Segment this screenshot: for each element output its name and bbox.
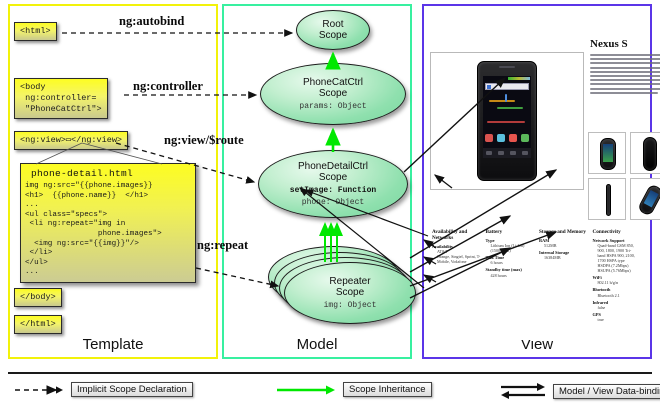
tag-html-close: </html>: [14, 315, 62, 334]
scope-repeater: RepeaterScope img: Object: [284, 262, 416, 324]
tag-ngview: <ng:view>▭</ng:view>: [14, 131, 128, 150]
snippet-filename: phone-detail.html: [25, 167, 191, 182]
thumb-front[interactable]: [588, 132, 626, 174]
spec-header-3: Connectivity: [593, 229, 643, 235]
label-ng-autobind: ng:autobind: [119, 14, 184, 29]
app-dock: [483, 130, 531, 146]
legend-green-arrow-icon: [276, 384, 336, 396]
scope-phonedetailctrl-title-l1: PhoneDetailCtrl: [298, 161, 368, 172]
legend-dashed-arrow-icon: [14, 384, 64, 396]
tray-icon-1: [486, 151, 492, 155]
hero-phone-image: [477, 61, 537, 181]
scope-repeater-title-l1: Repeater: [329, 276, 370, 287]
spec-val-2-1-0: 16384MB: [539, 255, 589, 260]
spec-val-3-4-0: true: [593, 317, 643, 322]
thumb-angle-phone-icon: [637, 183, 660, 217]
legend-implicit-scope-declaration: Implicit Scope Declaration: [14, 382, 193, 397]
thumb-side-phone-icon: [606, 184, 611, 216]
tray-icon-2: [498, 151, 504, 155]
wallpaper-stripe-2: [497, 107, 523, 109]
scope-phonecatctrl-title-l1: PhoneCatCtrl: [303, 77, 363, 88]
spec-column-storage: Storage and Memory RAM 512MB Internal St…: [539, 229, 589, 322]
legend-model-view-data-binding: Model / View Data-binding: [500, 382, 660, 400]
legend-label-data-binding: Model / View Data-binding: [553, 384, 660, 399]
app-icon-1: [485, 134, 493, 142]
thumb-back[interactable]: [630, 132, 660, 174]
app-icon-2: [497, 134, 505, 142]
tray-icon-3: [510, 151, 516, 155]
scope-phonedetailctrl-prop-setimage: setImage: Function: [290, 186, 376, 196]
wallpaper-stripe-3: [487, 121, 525, 123]
snippet-code: img ng:src="{{phone.images}} <h1> {{phon…: [25, 182, 191, 278]
product-title: Nexus S: [590, 38, 628, 50]
legend-divider: [8, 372, 652, 374]
spec-val-1-2-0: 428 hours: [486, 273, 536, 278]
scope-phonedetailctrl-prop-phone: phone: Object: [302, 198, 364, 208]
legend-label-implicit: Implicit Scope Declaration: [71, 382, 193, 397]
scope-phonedetailctrl: PhoneDetailCtrlScope setImage: Function …: [258, 150, 408, 218]
spec-val-1-0-1: (1500 mAh): [486, 248, 536, 253]
tag-html-open: <html>: [14, 22, 57, 41]
tag-body-open: <body ng:controller= "PhoneCatCtrl">: [14, 78, 108, 119]
spec-val-3-0-5: HSUPA (5.76Mbps): [593, 268, 643, 273]
thumb-front-phone-icon: [600, 138, 616, 170]
specs-table: Availability and Networks Availability A…: [432, 229, 642, 322]
system-tray: [483, 148, 531, 158]
legend-label-inheritance: Scope Inheritance: [343, 382, 432, 397]
spec-val-3-2-0: Bluetooth 2.1: [593, 293, 643, 298]
spec-column-availability: Availability and Networks Availability A…: [432, 229, 482, 322]
scope-root-title-l1: Root: [322, 19, 343, 30]
label-ng-controller: ng:controller: [133, 79, 203, 94]
legend-double-arrow-icon: [500, 382, 546, 400]
wallpaper-stripe-4: [505, 94, 507, 102]
thumb-angle[interactable]: [630, 178, 660, 220]
app-icon-4: [521, 134, 529, 142]
spec-val-1-1-0: 6 hours: [486, 260, 536, 265]
scope-repeater-title-l2: Scope: [336, 287, 364, 298]
spec-val-2-0-0: 512MB: [539, 243, 589, 248]
scope-phonecatctrl: PhoneCatCtrlScope params: Object: [260, 63, 406, 125]
spec-val-3-1-0: 802.11 b/g/n: [593, 280, 643, 285]
phone-speaker: [499, 66, 515, 68]
panel-model-caption: Model: [224, 336, 410, 353]
phone-screen: [483, 76, 531, 158]
spec-header-0: Availability and Networks: [432, 229, 482, 241]
app-icon-3: [509, 134, 517, 142]
scope-repeater-prop-img: img: Object: [324, 301, 377, 311]
spec-val-3-3-0: false: [593, 305, 643, 310]
thumb-side[interactable]: [588, 178, 626, 220]
label-ng-view-route: ng:view/$route: [164, 133, 244, 148]
spec-column-connectivity: Connectivity Network Support Quad-band G…: [593, 229, 643, 322]
tray-icon-4: [522, 151, 528, 155]
spec-column-battery: Battery Type Lithium Ion (Li-Ion) (1500 …: [486, 229, 536, 322]
tag-body-close: </body>: [14, 288, 62, 307]
wallpaper-stripe-1: [489, 100, 515, 102]
scope-phonedetailctrl-title-l2: Scope: [319, 172, 347, 183]
thumb-back-phone-icon: [643, 137, 657, 171]
hero-image-box: [430, 52, 584, 190]
scope-phonecatctrl-title-l2: Scope: [319, 88, 347, 99]
spec-header-1: Battery: [486, 229, 536, 235]
panel-template-caption: Template: [10, 336, 216, 353]
label-ng-repeat: ng:repeat: [197, 238, 248, 253]
product-description: [590, 54, 660, 96]
status-bar-icon: [508, 77, 530, 80]
scope-phonecatctrl-prop-params: params: Object: [299, 102, 366, 112]
spec-val-0-0-1: Orange, Singtel, Sprint, T-Mobile, Vodaf…: [432, 254, 482, 264]
rendered-view-page: Nexus S Availability and Networks: [430, 14, 644, 340]
angular-scope-diagram: Template Model View <html> <body ng:cont…: [0, 0, 660, 420]
scope-root: RootScope: [296, 10, 370, 50]
spec-header-2: Storage and Memory: [539, 229, 589, 235]
search-widget-icon: [485, 83, 529, 90]
scope-root-title-l2: Scope: [319, 30, 347, 41]
legend-scope-inheritance: Scope Inheritance: [276, 382, 432, 397]
phone-detail-snippet: phone-detail.html img ng:src="{{phone.im…: [20, 163, 196, 283]
